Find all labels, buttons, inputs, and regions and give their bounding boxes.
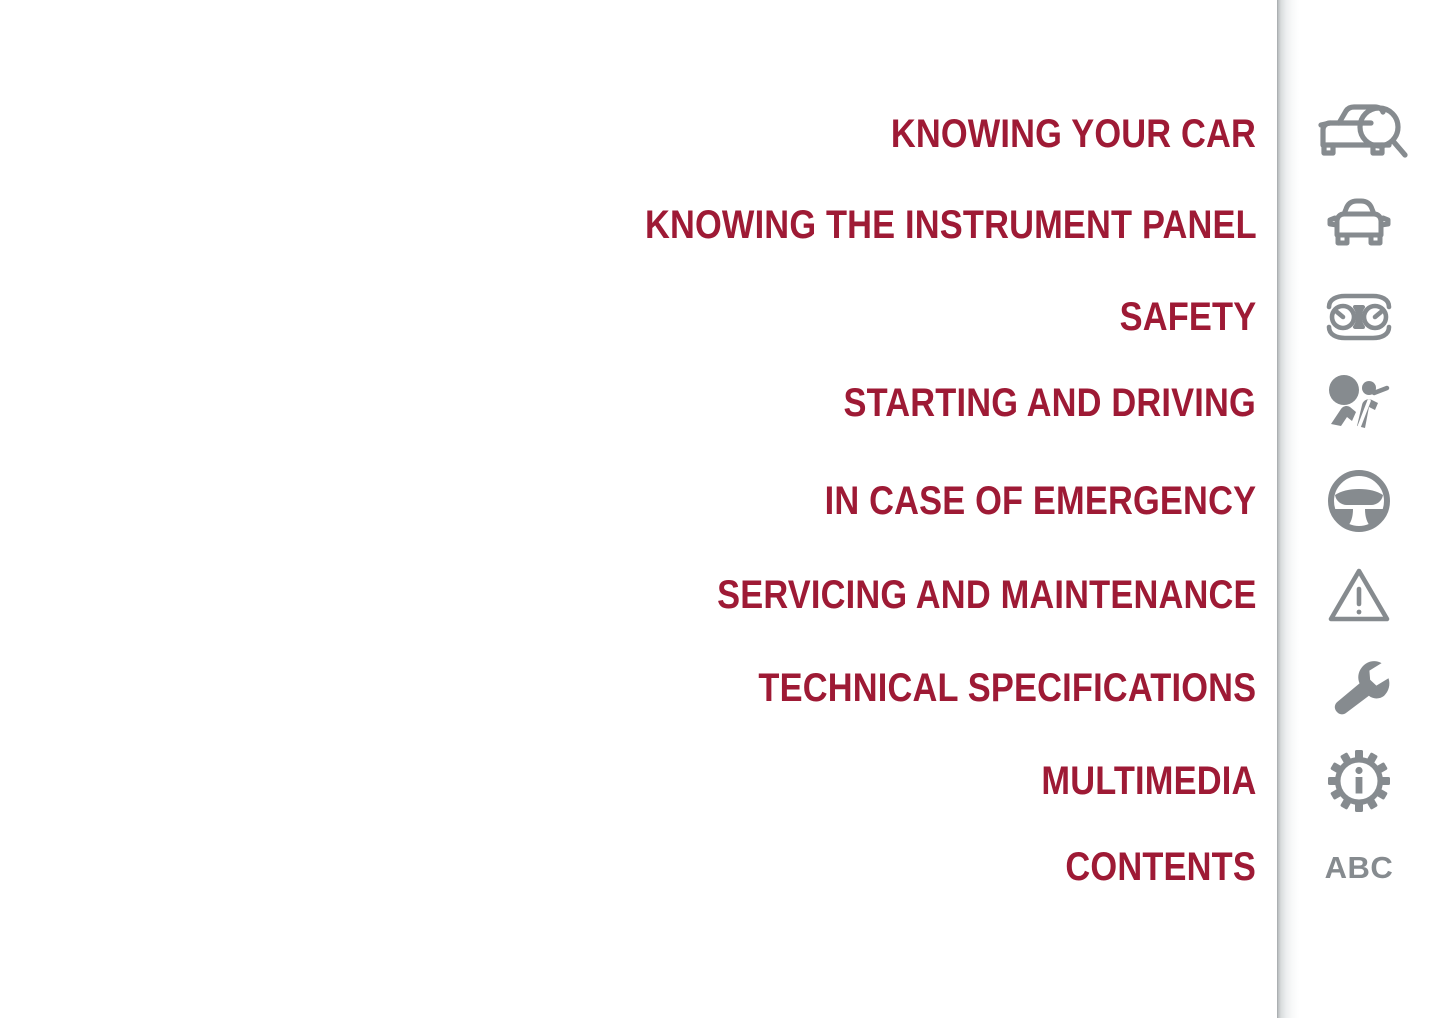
car-with-magnifier-icon bbox=[1313, 101, 1405, 167]
section-link-knowing-your-car[interactable]: KNOWING YOUR CAR bbox=[0, 88, 1277, 180]
section-link-technical-specifications[interactable]: TECHNICAL SPECIFICATIONS bbox=[0, 642, 1277, 734]
section-link-multimedia[interactable]: MULTIMEDIA bbox=[0, 735, 1277, 827]
section-label: IN CASE OF EMERGENCY bbox=[825, 481, 1277, 521]
airbag-seatbelt-icon bbox=[1325, 374, 1393, 432]
section-link-in-case-of-emergency[interactable]: IN CASE OF EMERGENCY bbox=[0, 455, 1277, 547]
section-icon-button-starting-and-driving[interactable] bbox=[1299, 357, 1419, 449]
section-icon-button-multimedia[interactable] bbox=[1299, 735, 1419, 827]
steering-wheel-icon bbox=[1327, 469, 1391, 533]
section-link-safety[interactable]: SAFETY bbox=[0, 271, 1277, 363]
section-label: SERVICING AND MAINTENANCE bbox=[717, 575, 1277, 615]
section-icon-button-contents[interactable]: ABC bbox=[1299, 821, 1419, 913]
section-link-contents[interactable]: CONTENTS bbox=[0, 821, 1277, 913]
manual-index-page: KNOWING YOUR CAR KNOWING THE INSTRUMENT … bbox=[0, 0, 1445, 1018]
car-front-icon bbox=[1324, 195, 1394, 255]
section-label: TECHNICAL SPECIFICATIONS bbox=[759, 668, 1277, 708]
section-icon-button-safety[interactable] bbox=[1299, 271, 1419, 363]
page-edge-divider bbox=[1277, 0, 1299, 1018]
wrench-icon bbox=[1328, 657, 1390, 719]
section-link-starting-and-driving[interactable]: STARTING AND DRIVING bbox=[0, 357, 1277, 449]
section-icon-rail: ABC bbox=[1299, 0, 1445, 1018]
section-icon-button-knowing-the-instrument-panel[interactable] bbox=[1299, 179, 1419, 271]
instrument-gauges-icon bbox=[1321, 291, 1397, 343]
section-label: KNOWING THE INSTRUMENT PANEL bbox=[644, 205, 1277, 245]
gear-info-icon bbox=[1328, 750, 1390, 812]
section-icon-button-servicing-and-maintenance[interactable] bbox=[1299, 549, 1419, 641]
abc-text-icon: ABC bbox=[1325, 852, 1394, 883]
section-label: SAFETY bbox=[1120, 297, 1277, 337]
section-label: MULTIMEDIA bbox=[1041, 761, 1277, 801]
section-icon-button-technical-specifications[interactable] bbox=[1299, 642, 1419, 734]
section-index-list: KNOWING YOUR CAR KNOWING THE INSTRUMENT … bbox=[0, 0, 1277, 1018]
warning-triangle-icon bbox=[1328, 566, 1390, 624]
section-link-knowing-the-instrument-panel[interactable]: KNOWING THE INSTRUMENT PANEL bbox=[0, 179, 1277, 271]
section-icon-button-knowing-your-car[interactable] bbox=[1299, 88, 1419, 180]
section-link-servicing-and-maintenance[interactable]: SERVICING AND MAINTENANCE bbox=[0, 549, 1277, 641]
section-label: CONTENTS bbox=[1066, 847, 1277, 887]
section-label: STARTING AND DRIVING bbox=[844, 383, 1277, 423]
section-label: KNOWING YOUR CAR bbox=[891, 114, 1277, 154]
section-icon-button-in-case-of-emergency[interactable] bbox=[1299, 455, 1419, 547]
